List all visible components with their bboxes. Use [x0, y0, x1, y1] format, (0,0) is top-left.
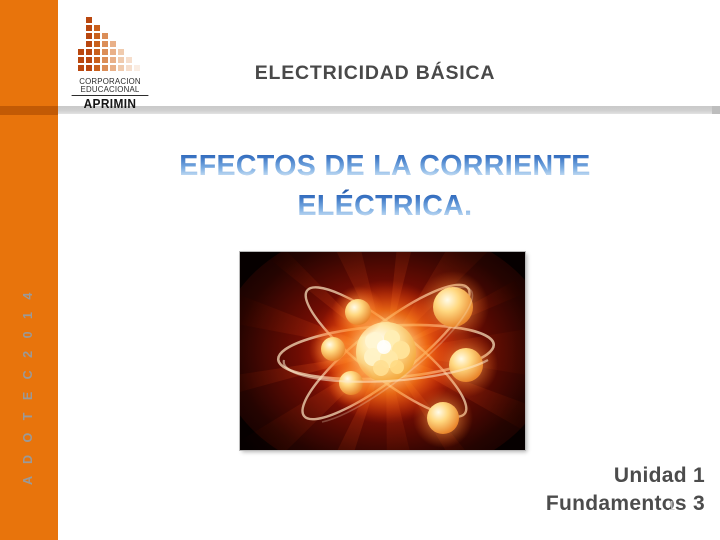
aprimin-logo-text: CORPORACION EDUCACIONAL APRIMIN	[70, 78, 150, 110]
slide-title-line-1: EFECTOS DE LA CORRIENTE	[120, 146, 650, 186]
header-title: ELECTRICIDAD BÁSICA	[150, 62, 600, 85]
page-number: 1	[668, 498, 675, 513]
left-sidebar: A D O T E C 2 0 1 4	[0, 0, 58, 540]
sidebar-divider-band	[0, 106, 58, 115]
slide-title-line-2: ELÉCTRICA.	[120, 186, 650, 226]
header-divider-rule	[58, 106, 720, 114]
slide-canvas: A D O T E C 2 0 1 4	[0, 0, 720, 540]
footer-fundamentos: Fundamentos 3	[330, 490, 705, 518]
atom-figure	[240, 252, 525, 450]
sidebar-vertical-label: A D O T E C 2 0 1 4	[0, 169, 57, 489]
aprimin-logo-mark-icon	[74, 16, 150, 78]
slide-title: EFECTOS DE LA CORRIENTE ELÉCTRICA.	[120, 146, 650, 227]
slide-footer: Unidad 1 Fundamentos 3	[330, 462, 705, 517]
logo-line-educacional: EDUCACIONAL	[72, 86, 149, 96]
footer-unidad: Unidad 1	[330, 462, 705, 490]
header-divider-cap	[712, 106, 720, 114]
aprimin-logo: CORPORACION EDUCACIONAL APRIMIN	[70, 16, 150, 104]
logo-line-aprimin: APRIMIN	[72, 98, 148, 111]
